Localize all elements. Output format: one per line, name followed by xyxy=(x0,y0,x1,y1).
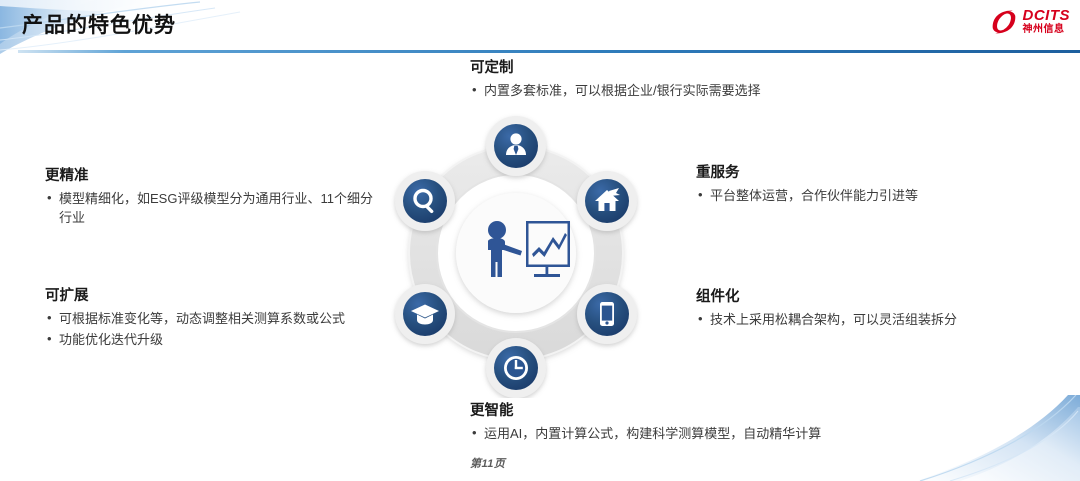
feature-bullet-list: 内置多套标准，可以根据企业/银行实际需要选择 xyxy=(470,82,940,101)
feature-bullet: 内置多套标准，可以根据企业/银行实际需要选择 xyxy=(470,82,940,101)
feature-bullet: 平台整体运营，合作伙伴能力引进等 xyxy=(696,187,1026,206)
feature-bullet-list: 可根据标准变化等，动态调整相关测算系数或公式 功能优化迭代升级 xyxy=(45,310,380,350)
page-number-label: 第11页 xyxy=(470,455,505,471)
clock-icon xyxy=(504,356,528,380)
feature-title: 重服务 xyxy=(696,165,1026,182)
logo-name: DCITS xyxy=(1023,8,1071,23)
feature-bullet-list: 平台整体运营，合作伙伴能力引进等 xyxy=(696,187,1026,206)
feature-title: 更智能 xyxy=(470,403,970,420)
feature-bullet: 可根据标准变化等，动态调整相关测算系数或公式 xyxy=(45,310,380,329)
page-title: 产品的特色优势 xyxy=(22,9,176,39)
feature-bullet: 运用AI，内置计算公式，构建科学测算模型，自动精华计算 xyxy=(470,425,970,444)
slide-header: 产品的特色优势 DCITS 神州信息 xyxy=(0,0,1080,54)
slide-root: 产品的特色优势 DCITS 神州信息 xyxy=(0,0,1080,481)
feature-block-accurate: 更精准 模型精细化，如ESG评级模型分为通用行业、11个细分行业 xyxy=(45,168,380,230)
wheel-badge-mobile xyxy=(577,284,637,344)
feature-block-service: 重服务 平台整体运营，合作伙伴能力引进等 xyxy=(696,165,1026,208)
feature-block-extensible: 可扩展 可根据标准变化等，动态调整相关测算系数或公式 功能优化迭代升级 xyxy=(45,288,380,352)
feature-bullet-list: 模型精细化，如ESG评级模型分为通用行业、11个细分行业 xyxy=(45,190,380,228)
wheel-center xyxy=(456,193,576,313)
feature-title: 更精准 xyxy=(45,168,380,185)
feature-bullet-list: 技术上采用松耦合架构，可以灵活组装拆分 xyxy=(696,311,1026,330)
wheel-badge-user xyxy=(486,116,546,176)
feature-title: 组件化 xyxy=(696,289,1026,306)
mobile-phone-icon xyxy=(600,302,614,326)
feature-bullet-list: 运用AI，内置计算公式，构建科学测算模型，自动精华计算 xyxy=(470,425,970,444)
logo-subtitle: 神州信息 xyxy=(1023,25,1071,35)
feature-bullet: 功能优化迭代升级 xyxy=(45,331,380,350)
feature-bullet: 模型精细化，如ESG评级模型分为通用行业、11个细分行业 xyxy=(45,190,380,228)
wheel-badge-home xyxy=(577,171,637,231)
wheel-badge-clock xyxy=(486,338,546,398)
brand-logo: DCITS 神州信息 xyxy=(990,8,1071,35)
wheel-badge-search xyxy=(395,171,455,231)
swoosh-icon xyxy=(990,9,1018,35)
feature-block-customizable: 可定制 内置多套标准，可以根据企业/银行实际需要选择 xyxy=(470,60,940,103)
feature-block-modular: 组件化 技术上采用松耦合架构，可以灵活组装拆分 xyxy=(696,289,1026,332)
feature-bullet: 技术上采用松耦合架构，可以灵活组装拆分 xyxy=(696,311,1026,330)
feature-wheel-graphic xyxy=(378,108,654,398)
wheel-badge-education xyxy=(395,284,455,344)
header-divider xyxy=(18,50,1080,53)
feature-block-smart: 更智能 运用AI，内置计算公式，构建科学测算模型，自动精华计算 xyxy=(470,403,970,446)
feature-title: 可定制 xyxy=(470,60,940,77)
feature-title: 可扩展 xyxy=(45,288,380,305)
